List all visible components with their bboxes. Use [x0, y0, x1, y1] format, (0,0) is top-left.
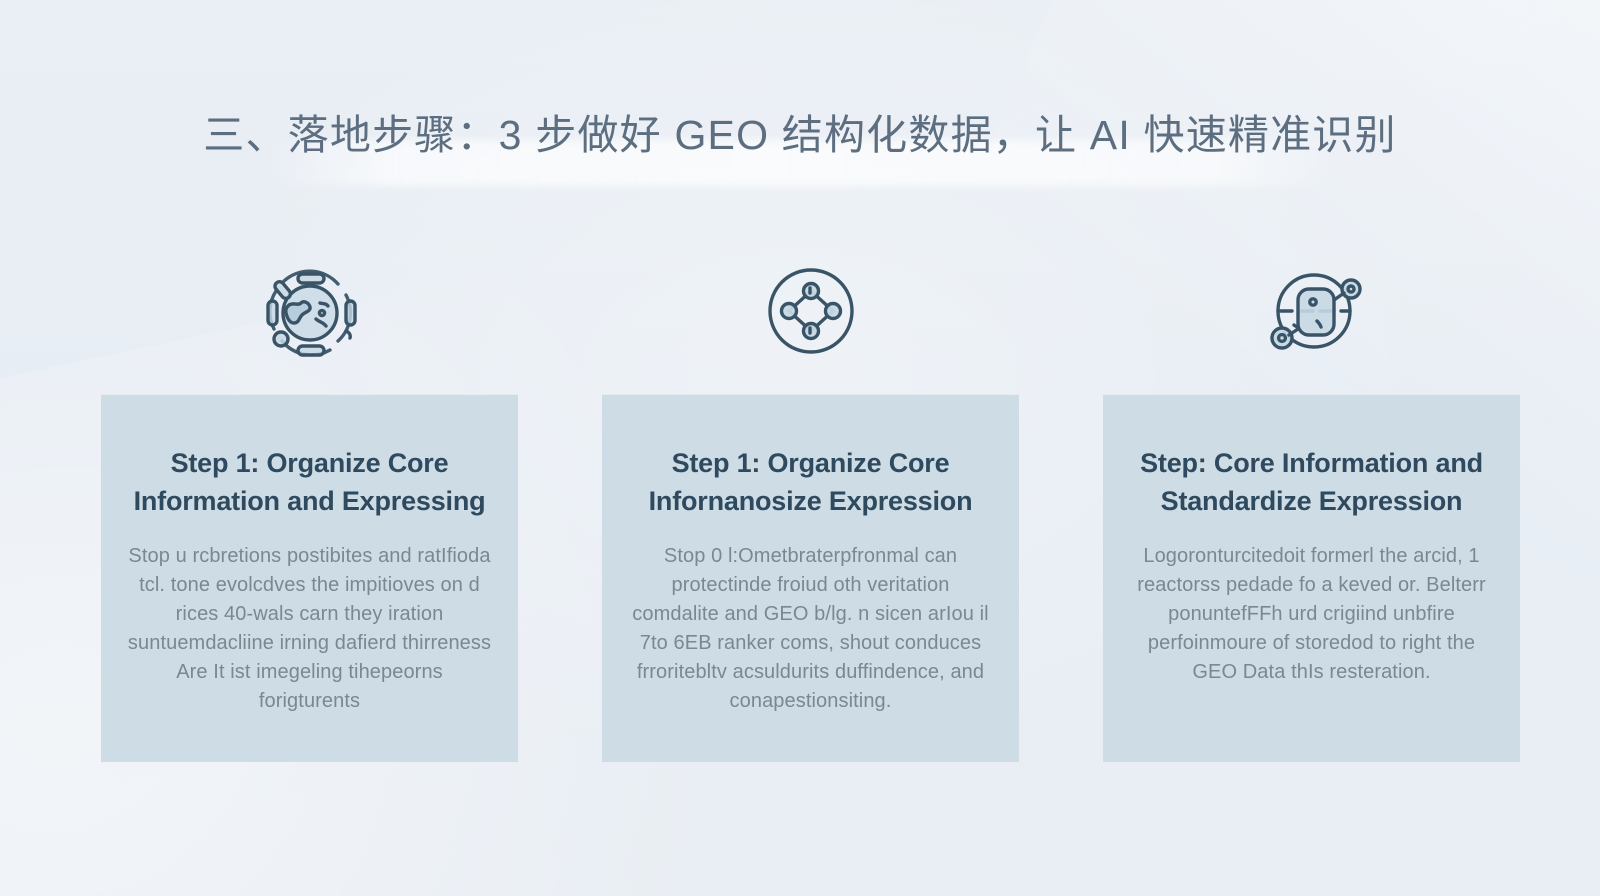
step-card-3: Step: Core Information and Standardize E…	[1103, 394, 1520, 762]
step-card-body: Stop 0 l:Ometbraterpfronmal can protecti…	[628, 542, 993, 716]
step-column-1: Step 1: Organize Core Information and Ex…	[101, 248, 518, 768]
title-section: 三、落地步骤：3 步做好 GEO 结构化数据，让 AI 快速精准识别	[0, 0, 1600, 210]
step-card-title: Step: Core Information and Standardize E…	[1129, 444, 1494, 520]
step-column-3: Step: Core Information and Standardize E…	[1103, 248, 1520, 768]
network-nodes-icon	[748, 248, 874, 374]
steps-columns: Step 1: Organize Core Information and Ex…	[101, 248, 1520, 768]
step-card-body: Logoronturcitedoit formerl the arcid, 1 …	[1129, 542, 1494, 687]
page-title: 三、落地步骤：3 步做好 GEO 结构化数据，让 AI 快速精准识别	[0, 101, 1600, 161]
globe-orbit-icon	[247, 248, 373, 374]
step-card-2: Step 1: Organize Core Infornanosize Expr…	[602, 394, 1019, 762]
step-card-title: Step 1: Organize Core Infornanosize Expr…	[628, 444, 993, 520]
step-card-1: Step 1: Organize Core Information and Ex…	[101, 394, 518, 762]
step-card-title: Step 1: Organize Core Information and Ex…	[127, 444, 492, 520]
step-column-2: Step 1: Organize Core Infornanosize Expr…	[602, 248, 1019, 768]
globe-data-node-icon	[1249, 248, 1375, 374]
step-card-body: Stop u rcbretions postibites and ratIfio…	[127, 542, 492, 716]
